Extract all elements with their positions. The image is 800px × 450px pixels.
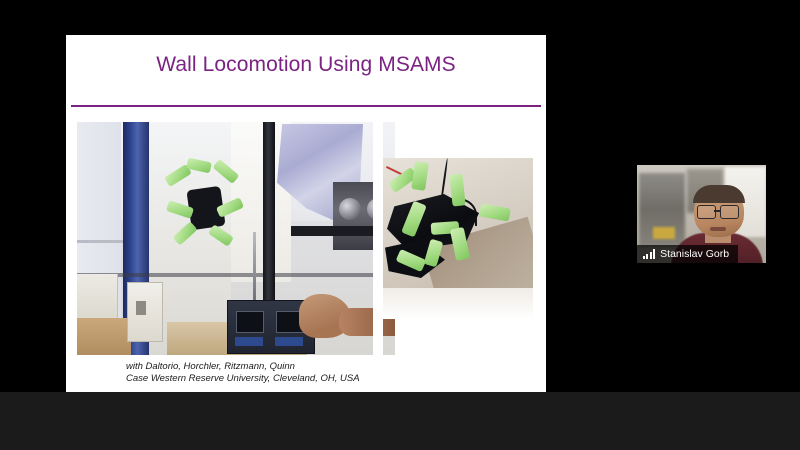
video-conference-window: Wall Locomotion Using MSAMS <box>0 0 800 450</box>
adhesive-pad <box>411 161 429 191</box>
adhesive-pad <box>449 173 465 206</box>
storage-box-upper <box>77 274 118 318</box>
slide-photo-collage <box>77 122 533 355</box>
adhesive-pad <box>208 224 234 247</box>
title-divider-rule <box>71 105 541 107</box>
participant-name-badge: Stanislav Gorb <box>637 245 738 263</box>
photo-separator <box>373 122 383 355</box>
slide-caption-institution: Case Western Reserve University, Clevela… <box>126 373 526 385</box>
slide-caption-collaborators: with Daltorio, Horchler, Ritzmann, Quinn <box>126 361 526 373</box>
background-object <box>653 227 675 239</box>
participant-video-tile[interactable]: Stanislav Gorb <box>637 165 766 263</box>
climbing-robot <box>165 160 245 246</box>
cabinet-handle <box>136 301 146 315</box>
equipment-dial-left <box>339 198 361 220</box>
participant-hair <box>693 185 745 203</box>
photo-robot-closeup <box>383 158 533 319</box>
presentation-slide[interactable]: Wall Locomotion Using MSAMS <box>66 35 546 392</box>
wall-seam-lower <box>77 273 395 277</box>
lab-cabinet <box>127 282 163 342</box>
glasses-lens-left <box>697 205 716 219</box>
audio-bars-icon <box>643 249 655 259</box>
slide-title: Wall Locomotion Using MSAMS <box>66 53 546 77</box>
glasses-bridge <box>714 210 720 212</box>
photo-wall-climbing-robot-scene <box>77 122 395 355</box>
transmitter-label-left <box>235 337 263 346</box>
adhesive-pad <box>213 159 240 184</box>
transmitter-antenna <box>253 232 256 302</box>
transmitter-label-right <box>275 337 303 346</box>
participant-name: Stanislav Gorb <box>660 248 729 260</box>
storage-box-lower <box>77 318 131 355</box>
adhesive-pad <box>479 203 511 221</box>
glasses-lens-right <box>720 205 739 219</box>
participant-mouth <box>710 227 726 231</box>
adhesive-pad <box>172 221 197 245</box>
photo-lower-margin <box>383 288 533 319</box>
transmitter-stick-left <box>236 311 264 333</box>
